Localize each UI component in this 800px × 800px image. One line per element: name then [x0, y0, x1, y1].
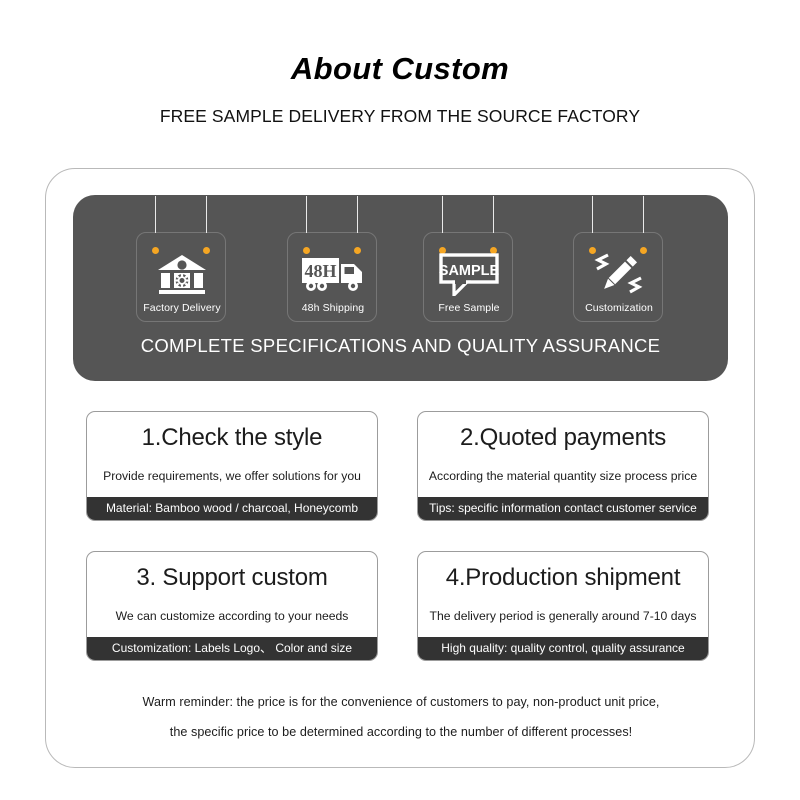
hanging-string-left	[155, 196, 156, 233]
warm-reminder: Warm reminder: the price is for the conv…	[46, 687, 756, 747]
step-card-check-the-style[interactable]: 1.Check the style Provide requirements, …	[86, 411, 378, 521]
about-custom-infographic: About Custom FREE SAMPLE DELIVERY FROM T…	[0, 0, 800, 800]
svg-text:SAMPLE: SAMPLE	[439, 263, 500, 279]
step-title: 4.Production shipment	[418, 564, 708, 592]
badge-label: Free Sample	[424, 302, 514, 314]
step-footer: Customization: Labels Logo、 Color and si…	[87, 637, 377, 660]
svg-text:48H: 48H	[304, 261, 336, 281]
page-title: About Custom	[0, 52, 800, 86]
step-title: 1.Check the style	[87, 424, 377, 452]
step-footer: Material: Bamboo wood / charcoal, Honeyc…	[87, 497, 377, 520]
pencil-edit-icon	[574, 251, 664, 297]
step-description: According the material quantity size pro…	[418, 469, 708, 483]
step-description: The delivery period is generally around …	[418, 609, 708, 623]
hanging-string-left	[442, 196, 443, 233]
factory-building-icon	[137, 251, 227, 297]
header: About Custom FREE SAMPLE DELIVERY FROM T…	[0, 52, 800, 127]
step-footer: Tips: specific information contact custo…	[418, 497, 708, 520]
step-card-support-custom[interactable]: 3. Support custom We can customize accor…	[86, 551, 378, 661]
badge-label: Factory Delivery	[137, 302, 227, 314]
hanging-string-right	[206, 196, 207, 233]
hanging-string-right	[357, 196, 358, 233]
step-card-quoted-payments[interactable]: 2.Quoted payments According the material…	[417, 411, 709, 521]
content-container: Factory Delivery 48H	[45, 168, 755, 768]
hanging-string-right	[493, 196, 494, 233]
quality-banner-text: COMPLETE SPECIFICATIONS AND QUALITY ASSU…	[73, 335, 728, 357]
hanging-string-right	[643, 196, 644, 233]
page-subtitle: FREE SAMPLE DELIVERY FROM THE SOURCE FAC…	[0, 86, 800, 127]
badge-label: Customization	[574, 302, 664, 314]
step-description: Provide requirements, we offer solutions…	[87, 469, 377, 483]
sample-tag-icon: SAMPLE	[424, 251, 514, 297]
warm-reminder-line-1: Warm reminder: the price is for the conv…	[46, 687, 756, 717]
badge-factory-delivery[interactable]: Factory Delivery	[136, 232, 226, 322]
badge-row: Factory Delivery 48H	[73, 195, 728, 325]
delivery-truck-icon: 48H	[288, 251, 378, 297]
badge-free-sample[interactable]: SAMPLE Free Sample	[423, 232, 513, 322]
step-title: 2.Quoted payments	[418, 424, 708, 452]
feature-panel: Factory Delivery 48H	[73, 195, 728, 381]
warm-reminder-line-2: the specific price to be determined acco…	[46, 717, 756, 747]
badge-label: 48h Shipping	[288, 302, 378, 314]
step-card-production-shipment[interactable]: 4.Production shipment The delivery perio…	[417, 551, 709, 661]
hanging-string-left	[306, 196, 307, 233]
badge-48h-shipping[interactable]: 48H	[287, 232, 377, 322]
step-footer: High quality: quality control, quality a…	[418, 637, 708, 660]
step-description: We can customize according to your needs	[87, 609, 377, 623]
badge-customization[interactable]: Customization	[573, 232, 663, 322]
hanging-string-left	[592, 196, 593, 233]
step-title: 3. Support custom	[87, 564, 377, 592]
